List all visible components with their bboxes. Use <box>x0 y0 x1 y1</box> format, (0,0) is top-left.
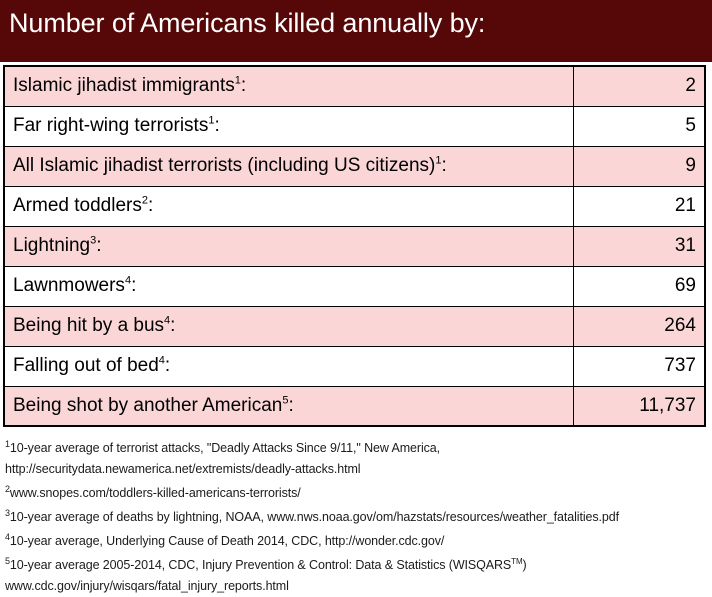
footnote-5-url[interactable]: www.cdc.gov/injury/wisqars/fatal_injury_… <box>5 579 289 593</box>
table-row: Armed toddlers2:21 <box>4 186 705 226</box>
footnote-1-line-1: 110-year average of terrorist attacks, "… <box>5 438 705 459</box>
footnote-5-line-2: www.cdc.gov/injury/wisqars/fatal_injury_… <box>5 576 705 597</box>
row-label-colon: : <box>288 395 293 416</box>
table-row: Lawnmowers4:69 <box>4 266 705 306</box>
row-label: Lightning3: <box>4 226 573 266</box>
footnote-3-line-1: 310-year average of deaths by lightning,… <box>5 507 705 528</box>
table-row: All Islamic jihadist terrorists (includi… <box>4 146 705 186</box>
row-value: 5 <box>573 106 705 146</box>
table-row: Islamic jihadist immigrants1:2 <box>4 66 705 106</box>
deaths-table: Islamic jihadist immigrants1:2Far right-… <box>3 65 706 427</box>
page-title: Number of Americans killed annually by: <box>9 6 485 40</box>
header-banner: Number of Americans killed annually by: <box>0 0 712 62</box>
footnotes-block: 110-year average of terrorist attacks, "… <box>5 438 705 597</box>
row-label: Falling out of bed4: <box>4 346 573 386</box>
footnote-2-line-1: 2www.snopes.com/toddlers-killed-american… <box>5 483 705 504</box>
deaths-table-container: Islamic jihadist immigrants1:2Far right-… <box>3 65 706 427</box>
table-row: Falling out of bed4:737 <box>4 346 705 386</box>
row-value: 264 <box>573 306 705 346</box>
footnote-1-text: 10-year average of terrorist attacks, "D… <box>10 441 440 455</box>
row-value: 11,737 <box>573 386 705 426</box>
row-label: Far right-wing terrorists1: <box>4 106 573 146</box>
row-label-text: Lawnmowers <box>13 275 125 296</box>
row-label-text: Islamic jihadist immigrants <box>13 75 235 96</box>
row-label-colon: : <box>131 275 136 296</box>
row-value: 69 <box>573 266 705 306</box>
table-row: Lightning3:31 <box>4 226 705 266</box>
row-label-text: Armed toddlers <box>13 195 142 216</box>
row-value: 21 <box>573 186 705 226</box>
row-label: Lawnmowers4: <box>4 266 573 306</box>
row-label-text: Lightning <box>13 235 90 256</box>
trademark-symbol: TM <box>511 557 522 566</box>
row-label-text: Being hit by a bus <box>13 315 164 336</box>
table-row: Far right-wing terrorists1:5 <box>4 106 705 146</box>
footnote-4-line-1: 410-year average, Underlying Cause of De… <box>5 531 705 552</box>
footnote-5-text: 10-year average 2005-2014, CDC, Injury P… <box>10 558 511 572</box>
table-body: Islamic jihadist immigrants1:2Far right-… <box>4 66 705 426</box>
row-label: All Islamic jihadist terrorists (includi… <box>4 146 573 186</box>
row-label-colon: : <box>214 115 219 136</box>
footnote-1-url[interactable]: http://securitydata.newamerica.net/extre… <box>5 462 360 476</box>
infographic-table-page: Number of Americans killed annually by: … <box>0 0 712 588</box>
row-label-text: Falling out of bed <box>13 355 159 376</box>
row-label-colon: : <box>441 155 446 176</box>
row-label-text: Far right-wing terrorists <box>13 115 208 136</box>
table-row: Being hit by a bus4:264 <box>4 306 705 346</box>
footnote-5-text-close: ) <box>523 558 527 572</box>
row-label: Islamic jihadist immigrants1: <box>4 66 573 106</box>
row-label-colon: : <box>165 355 170 376</box>
row-label-colon: : <box>96 235 101 256</box>
footnote-2-url[interactable]: www.snopes.com/toddlers-killed-americans… <box>10 486 301 500</box>
row-label-colon: : <box>170 315 175 336</box>
row-label-colon: : <box>241 75 246 96</box>
footnote-3-text[interactable]: 10-year average of deaths by lightning, … <box>10 510 619 524</box>
row-label: Being hit by a bus4: <box>4 306 573 346</box>
row-label: Armed toddlers2: <box>4 186 573 226</box>
row-label-text: Being shot by another American <box>13 395 282 416</box>
row-value: 2 <box>573 66 705 106</box>
footnote-5-line-1: 510-year average 2005-2014, CDC, Injury … <box>5 555 705 576</box>
footnote-4-text[interactable]: 10-year average, Underlying Cause of Dea… <box>10 534 444 548</box>
row-label-text: All Islamic jihadist terrorists (includi… <box>13 155 435 176</box>
footnote-1-line-2: http://securitydata.newamerica.net/extre… <box>5 459 705 480</box>
table-row: Being shot by another American5:11,737 <box>4 386 705 426</box>
row-label: Being shot by another American5: <box>4 386 573 426</box>
row-value: 31 <box>573 226 705 266</box>
row-value: 9 <box>573 146 705 186</box>
row-value: 737 <box>573 346 705 386</box>
row-label-colon: : <box>148 195 153 216</box>
